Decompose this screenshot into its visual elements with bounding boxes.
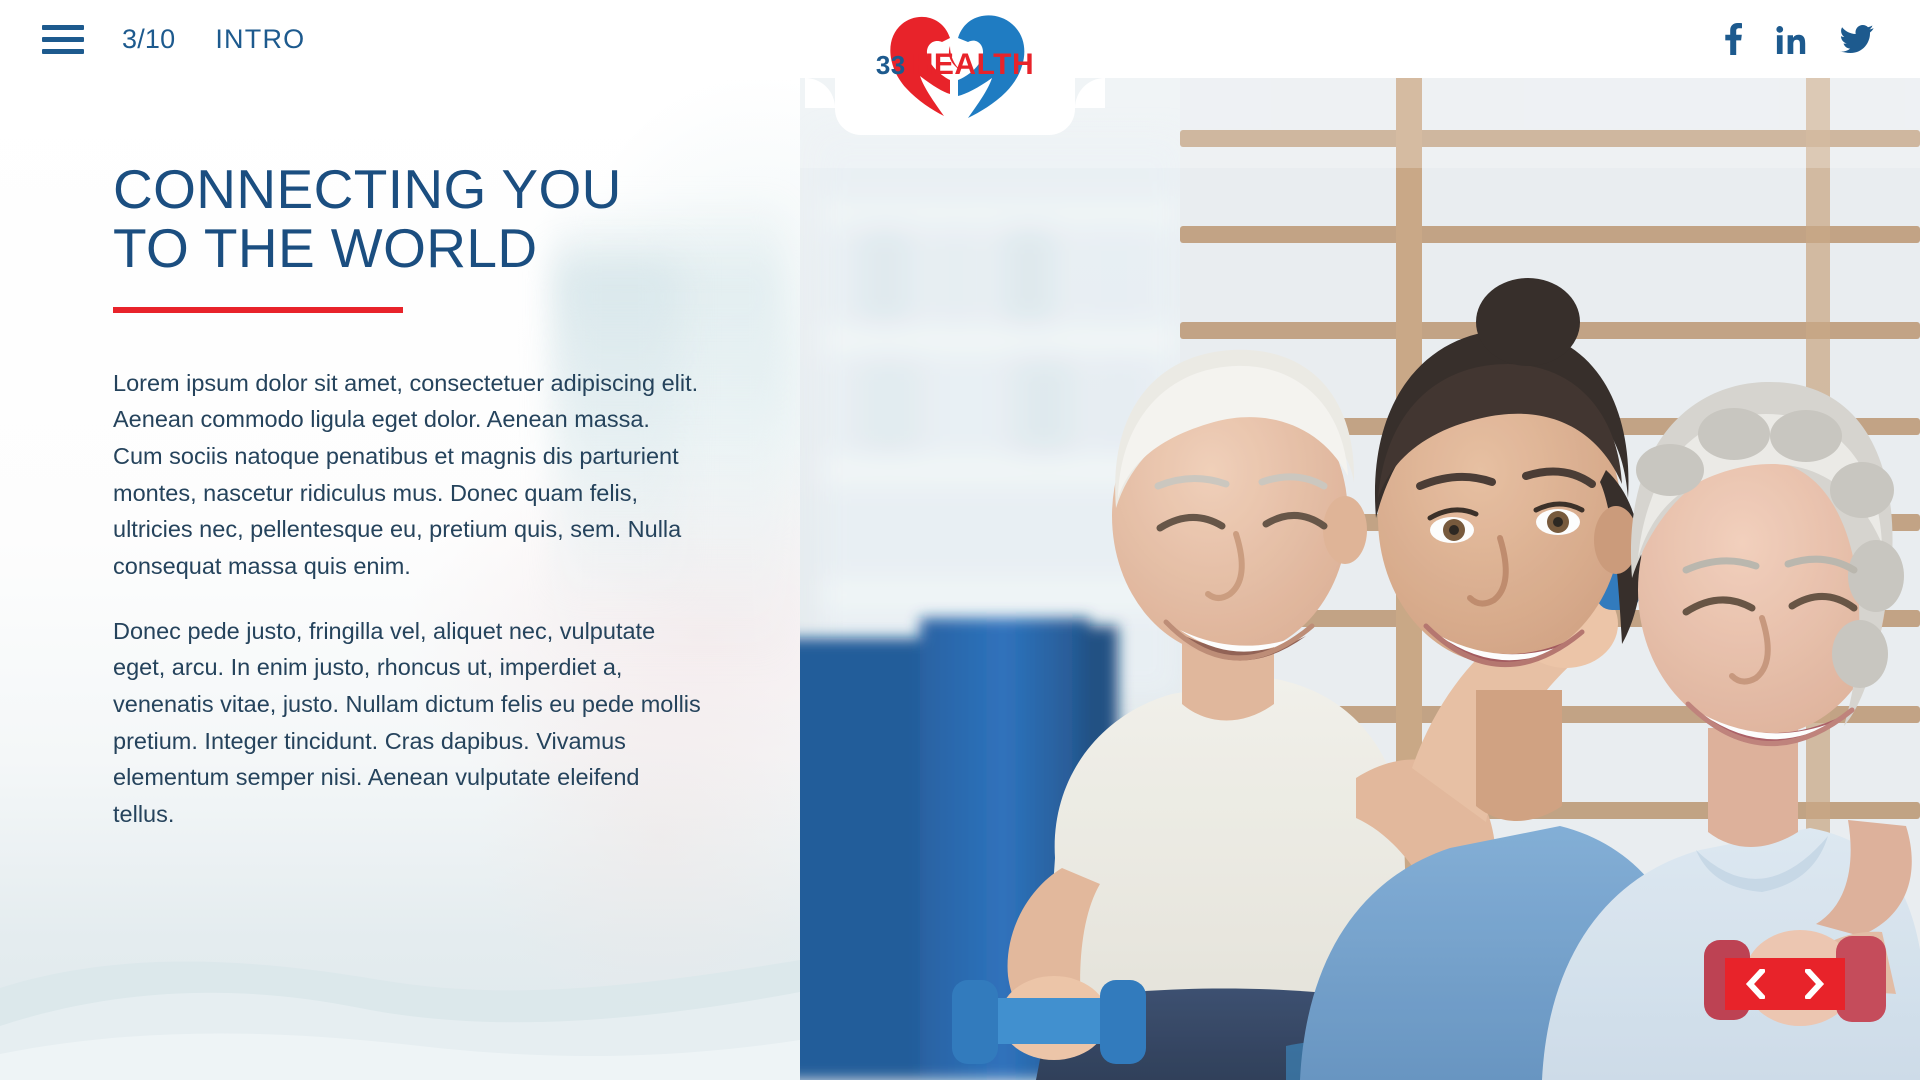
paragraph-2: Donec pede justo, fringilla vel, aliquet… [113,613,703,833]
logo-number: 33 [876,50,906,81]
brand-logo[interactable]: 33 HEALTH [862,6,1048,118]
twitter-icon[interactable] [1840,25,1874,53]
linkedin-icon[interactable] [1776,24,1806,54]
slide-navigation[interactable] [1725,958,1845,1010]
hamburger-menu-icon[interactable] [42,24,84,54]
hero-photo [800,78,1920,1080]
wave-decoration [0,840,800,1080]
slide-counter: 3/10 [122,24,175,55]
hamburger-bar [42,37,84,42]
chevron-right-icon[interactable] [1805,969,1825,999]
slide-stage: 3/10 INTRO [0,0,1920,1080]
body-copy: Lorem ipsum dolor sit amet, consectetuer… [113,365,703,833]
page-title: CONNECTING YOU TO THE WORLD [113,160,703,279]
title-underline-rule [113,307,403,313]
social-links [1724,23,1874,55]
logo-wordmark: HEALTH [912,48,1034,82]
hamburger-bar [42,25,84,30]
facebook-icon[interactable] [1724,23,1742,55]
hero-photo-illustration [800,78,1920,1080]
hamburger-bar [42,49,84,54]
chevron-left-icon[interactable] [1745,969,1765,999]
section-label[interactable]: INTRO [215,24,305,55]
paragraph-1: Lorem ipsum dolor sit amet, consectetuer… [113,365,703,585]
notch-corner-right [1075,78,1105,108]
slide-content: CONNECTING YOU TO THE WORLD Lorem ipsum … [113,160,703,833]
notch-corner-left [805,78,835,108]
